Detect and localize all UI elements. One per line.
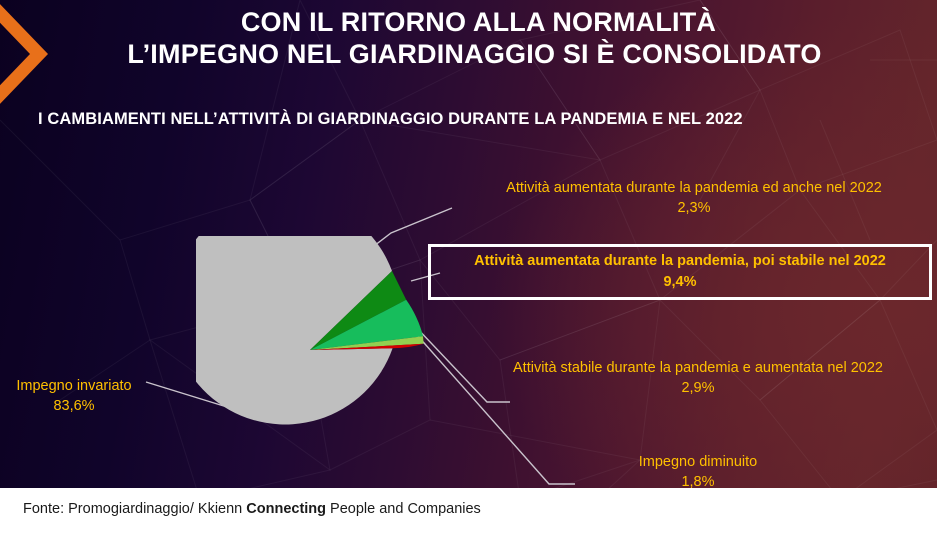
- pie-chart: [196, 236, 424, 464]
- callout-aumentata-anche-2022: Attività aumentata durante la pandemia e…: [464, 178, 924, 218]
- callout-stabile-poi-aumentata: Attività stabile durante la pandemia e a…: [468, 358, 928, 398]
- callout-text: Impegno diminuito: [639, 454, 758, 470]
- subtitle: I CAMBIAMENTI NELL’ATTIVITÀ DI GIARDINAG…: [38, 110, 743, 129]
- footer-bar: Fonte: Promogiardinaggio/ Kkienn Connect…: [0, 488, 937, 533]
- callout-text: Impegno invariato: [16, 378, 131, 394]
- callout-aumentata-poi-stabile-highlighted: Attività aumentata durante la pandemia, …: [428, 244, 932, 300]
- slide-canvas: CON IL RITORNO ALLA NORMALITÀ L’IMPEGNO …: [0, 0, 937, 533]
- source-suffix: People and Companies: [326, 501, 481, 517]
- callout-impegno-diminuito: Impegno diminuito 1,8%: [468, 452, 928, 492]
- callout-value: 83,6%: [4, 396, 144, 416]
- source-note: Fonte: Promogiardinaggio/ Kkienn Connect…: [23, 501, 481, 517]
- callout-value: 2,9%: [468, 378, 928, 398]
- orange-chevron-icon: [0, 2, 50, 106]
- source-bold: Connecting: [246, 501, 326, 517]
- source-prefix: Fonte: Promogiardinaggio/ Kkienn: [23, 501, 246, 517]
- callout-text: Attività aumentata durante la pandemia e…: [506, 180, 882, 196]
- callout-text: Attività aumentata durante la pandemia, …: [474, 251, 886, 272]
- callout-impegno-invariato: Impegno invariato 83,6%: [4, 376, 144, 416]
- callout-text: Attività stabile durante la pandemia e a…: [513, 360, 883, 376]
- callout-value: 9,4%: [663, 272, 696, 293]
- callout-value: 2,3%: [464, 198, 924, 218]
